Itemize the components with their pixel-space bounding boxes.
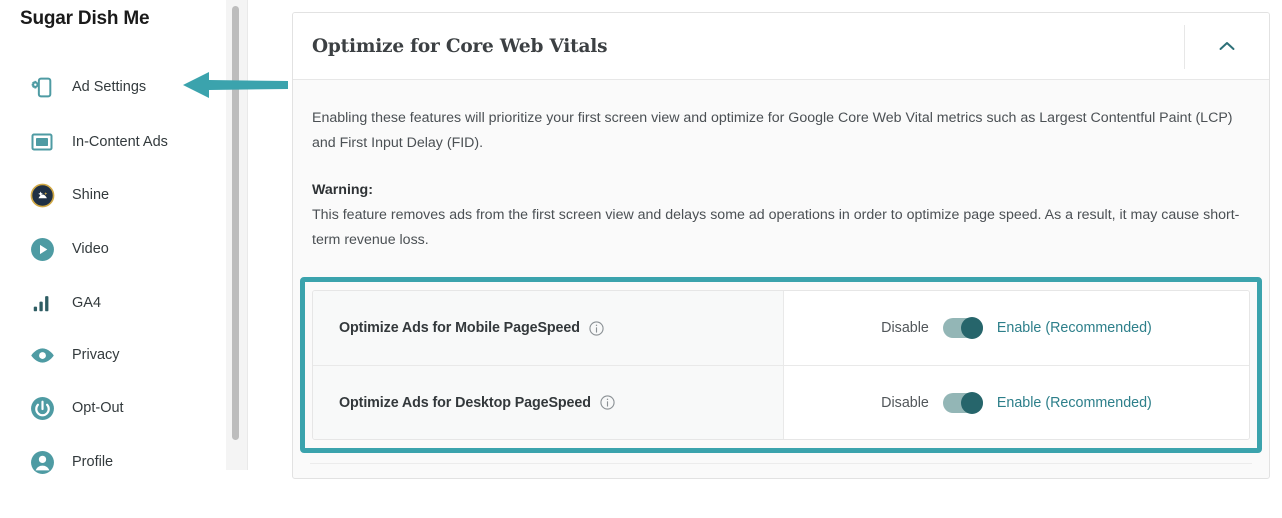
pagespeed-desktop-toggle[interactable] [943,393,983,413]
sidebar-item-profile[interactable]: Profile [0,437,226,487]
card-body: Enabling these features will prioritize … [293,80,1269,253]
setting-label: Optimize Ads for Desktop PageSpeed [339,395,591,411]
app-root: Sugar Dish Me Ad Settings In-Content Ads [0,0,1282,518]
row-label-cell: Optimize Ads for Mobile PageSpeed [313,291,784,365]
ad-frame-icon [28,128,56,156]
page-title: Optimize for Core Web Vitals [312,36,607,57]
warning-label: Warning: [312,178,1250,203]
toggle-knob [961,317,983,339]
row-label-cell: Optimize Ads for Desktop PageSpeed [313,366,784,439]
sidebar-item-label: Profile [72,454,113,470]
disable-option[interactable]: Disable [881,395,929,411]
card-header: Optimize for Core Web Vitals [293,13,1269,80]
sidebar-scrollbar-thumb[interactable] [232,6,239,440]
intro-paragraph: Enabling these features will prioritize … [312,106,1250,156]
warning-paragraph: This feature removes ads from the first … [312,207,1239,248]
sidebar-item-label: GA4 [72,295,101,311]
card-footer-divider [310,463,1252,464]
toggle-knob [961,392,983,414]
row-control-cell: Disable Enable (Recommended) [784,366,1249,439]
enable-option[interactable]: Enable (Recommended) [997,395,1152,411]
sidebar-item-ga4[interactable]: GA4 [0,278,226,328]
sidebar-item-shine[interactable]: Shine [0,170,226,220]
user-circle-icon [28,448,56,476]
sidebar-item-label: Shine [72,187,109,203]
sidebar-item-label: Privacy [72,347,120,363]
collapse-toggle-button[interactable] [1185,13,1269,79]
pagespeed-settings-table: Optimize Ads for Mobile PageSpeed Disabl… [312,290,1250,440]
power-icon [28,394,56,422]
play-circle-icon [28,235,56,263]
content-gutter [248,0,292,518]
sidebar-item-ad-settings[interactable]: Ad Settings [0,62,226,112]
sidebar-item-opt-out[interactable]: Opt-Out [0,383,226,433]
row-control-cell: Disable Enable (Recommended) [784,291,1249,365]
sidebar: Sugar Dish Me Ad Settings In-Content Ads [0,0,226,470]
warning-block: Warning: This feature removes ads from t… [312,178,1250,253]
sidebar-item-video[interactable]: Video [0,224,226,274]
table-row: Optimize Ads for Mobile PageSpeed Disabl… [313,291,1249,365]
table-row: Optimize Ads for Desktop PageSpeed Disab… [313,365,1249,439]
sidebar-item-label: In-Content Ads [72,134,168,150]
chevron-up-icon [1219,39,1235,54]
disable-option[interactable]: Disable [881,320,929,336]
pagespeed-mobile-toggle[interactable] [943,318,983,338]
brand-title: Sugar Dish Me [20,8,149,30]
eye-icon [28,341,56,369]
sidebar-item-privacy[interactable]: Privacy [0,330,226,380]
setting-label: Optimize Ads for Mobile PageSpeed [339,320,580,336]
sidebar-item-label: Video [72,241,109,257]
info-circle-icon[interactable] [600,395,615,410]
sidebar-item-in-content-ads[interactable]: In-Content Ads [0,117,226,167]
phone-gear-icon [28,73,56,101]
shine-badge-icon [28,181,56,209]
sidebar-item-label: Opt-Out [72,400,124,416]
sidebar-item-label: Ad Settings [72,79,146,95]
enable-option[interactable]: Enable (Recommended) [997,320,1152,336]
info-circle-icon[interactable] [589,321,604,336]
bar-chart-icon [28,289,56,317]
